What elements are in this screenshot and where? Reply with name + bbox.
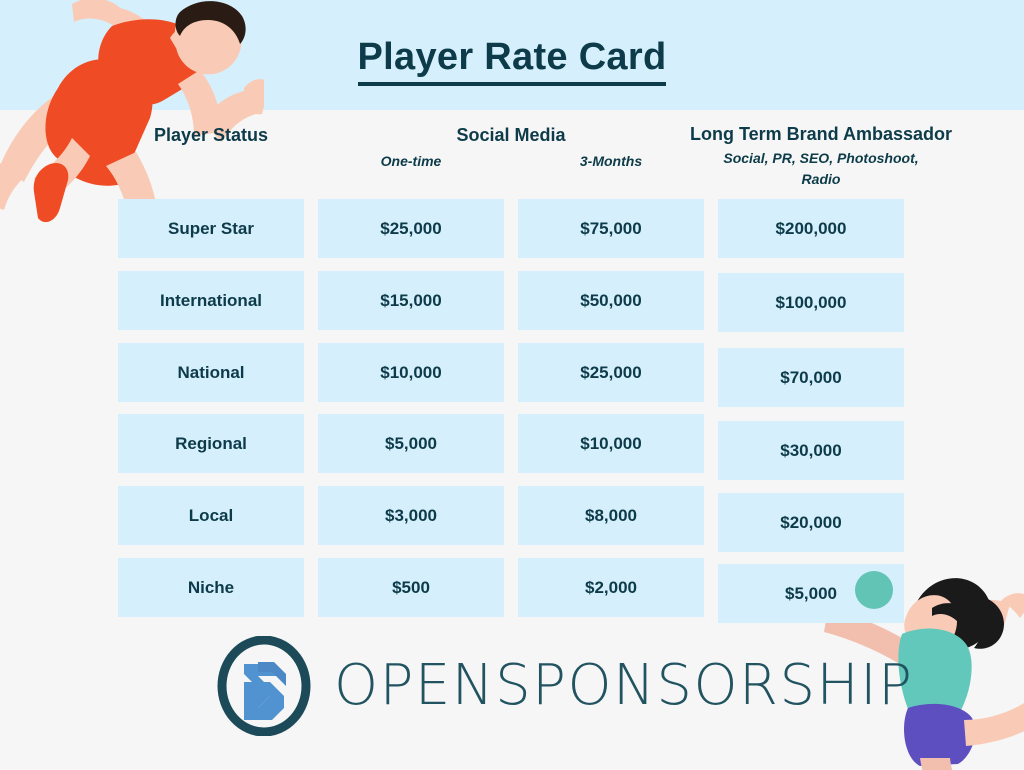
column-header-social-media: Social Media: [318, 124, 704, 146]
column-header-long-term: Long Term Brand Ambassador: [686, 123, 956, 145]
column-subheader-one-time: One-time: [318, 151, 504, 172]
table-cell-three-months: $75,000: [518, 199, 704, 258]
page-title: Player Rate Card: [0, 36, 1024, 79]
table-cell-long-term: $100,000: [718, 273, 904, 332]
table-cell-long-term: $20,000: [718, 493, 904, 552]
column-subheader-one-time-label: One-time: [381, 153, 442, 169]
table-row: Local: [118, 486, 304, 545]
table-cell-three-months: $50,000: [518, 271, 704, 330]
opensponsorship-mark-icon: [214, 636, 314, 736]
column-header-social-media-label: Social Media: [318, 124, 704, 146]
table-cell-one-time: $5,000: [318, 414, 504, 473]
column-header-long-term-label: Long Term Brand Ambassador: [686, 123, 956, 145]
table-cell-one-time: $15,000: [318, 271, 504, 330]
table-cell-three-months: $10,000: [518, 414, 704, 473]
column-subheader-three-months-label: 3-Months: [580, 153, 642, 169]
table-row: Regional: [118, 414, 304, 473]
table-cell-long-term: $70,000: [718, 348, 904, 407]
volleyball-icon: [855, 571, 893, 609]
table-cell-three-months: $2,000: [518, 558, 704, 617]
table-row: Super Star: [118, 199, 304, 258]
column-header-player-status-label: Player Status: [118, 124, 304, 146]
page-title-text: Player Rate Card: [358, 36, 667, 86]
column-subheader-long-term-detail-label: Social, PR, SEO, Photoshoot, Radio: [723, 150, 918, 187]
table-cell-one-time: $500: [318, 558, 504, 617]
table-cell-long-term: $200,000: [718, 199, 904, 258]
brand-logo: OPENSPONSORSHIP: [214, 636, 913, 736]
column-header-player-status: Player Status: [118, 124, 304, 146]
table-row: Niche: [118, 558, 304, 617]
table-cell-three-months: $8,000: [518, 486, 704, 545]
column-subheader-three-months: 3-Months: [518, 151, 704, 172]
table-cell-one-time: $3,000: [318, 486, 504, 545]
table-row: National: [118, 343, 304, 402]
sprinting-athlete-illustration: [0, 0, 264, 226]
table-cell-long-term: $30,000: [718, 421, 904, 480]
table-row: International: [118, 271, 304, 330]
column-subheader-long-term-detail: Social, PR, SEO, Photoshoot, Radio: [704, 148, 938, 190]
table-cell-one-time: $10,000: [318, 343, 504, 402]
table-cell-three-months: $25,000: [518, 343, 704, 402]
table-cell-one-time: $25,000: [318, 199, 504, 258]
brand-name: OPENSPONSORSHIP: [334, 656, 913, 716]
